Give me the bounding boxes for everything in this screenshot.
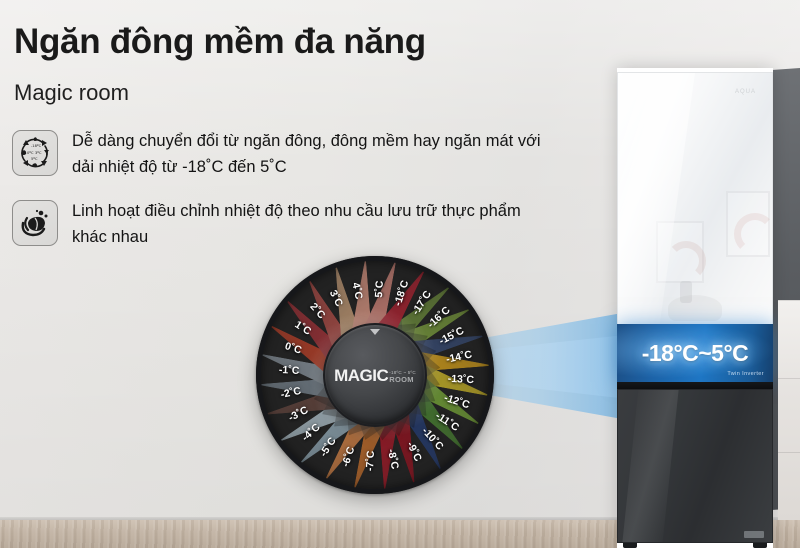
counter-edge (778, 378, 800, 379)
feature-item: -18ºC 0ºC 3ºC 5ºC Dễ dàng chuyển đổi từ … (12, 128, 552, 180)
counter-edge (778, 300, 800, 301)
svg-text:3ºC: 3ºC (35, 151, 42, 155)
door-gap (617, 382, 773, 389)
fridge-lower-door (617, 389, 773, 543)
hub-indicator-icon (370, 329, 380, 335)
hub-subtitle: ROOM (389, 376, 416, 385)
feature-list: -18ºC 0ºC 3ºC 5ºC Dễ dàng chuyển đổi từ … (12, 128, 552, 268)
reflection-vase (680, 281, 692, 303)
feature-text: Dễ dàng chuyển đổi từ ngăn đông, đông mề… (72, 128, 552, 180)
fridge-body: AQUA -18°C~5°C Twin Inverter (617, 68, 773, 548)
feature-item: Linh hoạt điều chỉnh nhiệt độ theo nhu c… (12, 198, 552, 250)
leaf-freshness-icon (12, 200, 58, 246)
fridge-foot (753, 543, 767, 548)
page-title: Ngăn đông mềm đa năng (14, 22, 426, 61)
reflection-arc (666, 241, 706, 281)
temperature-badge-text: -18°C~5°C (642, 340, 749, 367)
temperature-wheel[interactable]: MAGIC -18ºC ~ 5ºC ROOM -4˚C-3˚C-2˚C-1˚C0… (256, 256, 494, 494)
refrigerator: AQUA -18°C~5°C Twin Inverter (613, 68, 800, 548)
reflection-tableware (668, 295, 722, 321)
wheel-hub[interactable]: MAGIC -18ºC ~ 5ºC ROOM (323, 323, 427, 427)
fridge-lower-badge (744, 531, 764, 538)
fridge-upper-door: AQUA (617, 72, 773, 366)
counter-edge (778, 452, 800, 453)
product-feature-banner: Ngăn đông mềm đa năng Magic room (0, 0, 800, 548)
reflection-arc (734, 213, 773, 255)
svg-text:5ºC: 5ºC (31, 157, 38, 161)
kitchen-counter (778, 300, 800, 520)
svg-text:0ºC: 0ºC (27, 151, 34, 155)
temperature-conversion-cycle-icon: -18ºC 0ºC 3ºC 5ºC (12, 130, 58, 176)
fridge-foot (623, 543, 637, 548)
page-subtitle: Magic room (14, 80, 129, 106)
hub-title: MAGIC (334, 366, 388, 386)
svg-text:-18ºC: -18ºC (31, 144, 42, 148)
fridge-brand-label: AQUA (735, 89, 756, 95)
band-brand-label: Twin Inverter (727, 371, 764, 377)
feature-text: Linh hoạt điều chỉnh nhiệt độ theo nhu c… (72, 198, 552, 250)
temperature-badge: -18°C~5°C Twin Inverter (617, 324, 773, 382)
